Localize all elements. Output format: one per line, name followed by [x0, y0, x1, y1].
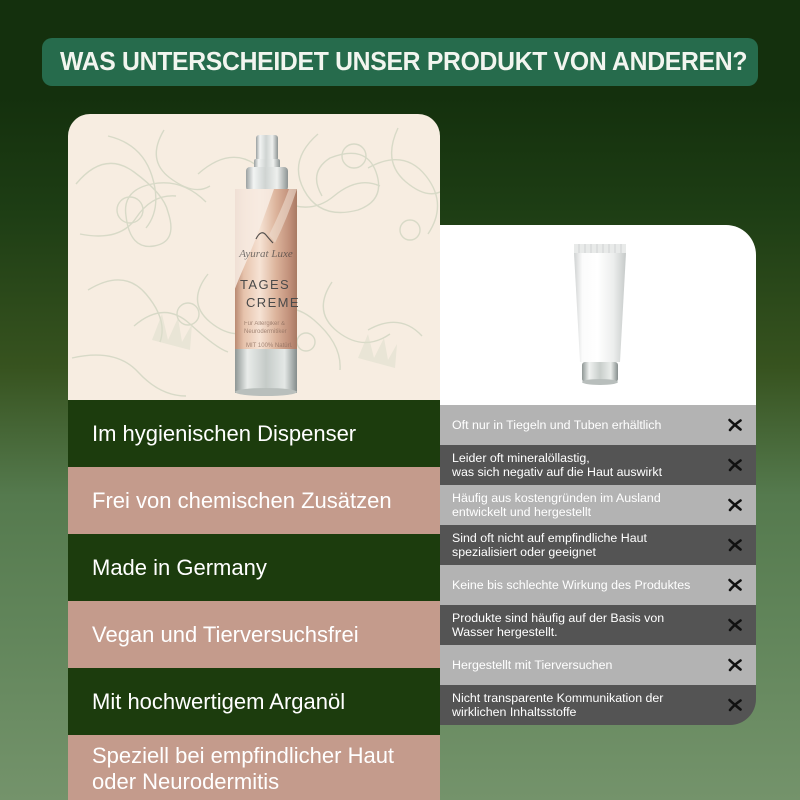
svg-text:Für Allergiker &: Für Allergiker & — [244, 321, 285, 327]
page-title: WAS UNTERSCHEIDET UNSER PRODUKT VON ANDE… — [60, 48, 747, 77]
list-item: Speziell bei empfindlicher Haut oder Neu… — [68, 735, 440, 800]
list-item: Mit hochwertigem Arganöl — [68, 668, 440, 735]
benefit-label: Mit hochwertigem Arganöl — [92, 689, 345, 715]
list-item: Sind oft nicht auf empfindliche Haut spe… — [440, 525, 756, 565]
benefit-label: Vegan und Tierversuchsfrei — [92, 622, 359, 648]
drawback-label: Oft nur in Tiegeln und Tuben erhältlich — [452, 418, 722, 433]
benefit-label: Speziell bei empfindlicher Haut oder Neu… — [92, 743, 422, 795]
svg-text:CREME: CREME — [246, 295, 300, 310]
list-item: Keine bis schlechte Wirkung des Produkte… — [440, 565, 756, 605]
drawback-label: Produkte sind häufig auf der Basis von W… — [452, 611, 722, 640]
competitor-tube-image — [558, 240, 642, 400]
x-mark-icon — [722, 416, 748, 434]
x-mark-icon — [722, 536, 748, 554]
x-mark-icon — [722, 576, 748, 594]
svg-text:Neurodermitiker: Neurodermitiker — [244, 329, 287, 335]
list-item: Frei von chemischen Zusätzen — [68, 467, 440, 534]
x-mark-icon — [722, 496, 748, 514]
competitor-drawback-list: Oft nur in Tiegeln und Tuben erhältlich … — [440, 405, 756, 725]
list-item: Leider oft mineralöllastig, was sich neg… — [440, 445, 756, 485]
header-banner: WAS UNTERSCHEIDET UNSER PRODUKT VON ANDE… — [42, 38, 758, 86]
drawback-label: Keine bis schlechte Wirkung des Produkte… — [452, 578, 722, 593]
drawback-label: Sind oft nicht auf empfindliche Haut spe… — [452, 531, 722, 560]
benefit-label: Im hygienischen Dispenser — [92, 421, 356, 447]
product-benefit-list: Im hygienischen Dispenser Frei von chemi… — [68, 400, 440, 800]
x-mark-icon — [722, 656, 748, 674]
benefit-label: Made in Germany — [92, 555, 267, 581]
drawback-label: Nicht transparente Kommunikation der wir… — [452, 691, 722, 720]
x-mark-icon — [722, 696, 748, 714]
list-item: Hergestellt mit Tierversuchen — [440, 645, 756, 685]
benefit-label: Frei von chemischen Zusätzen — [92, 488, 392, 514]
x-mark-icon — [722, 616, 748, 634]
product-bottle-image: Ayurat Luxe TAGES CREME Für Allergiker &… — [216, 133, 316, 397]
list-item: Oft nur in Tiegeln und Tuben erhältlich — [440, 405, 756, 445]
drawback-label: Leider oft mineralöllastig, was sich neg… — [452, 451, 722, 480]
drawback-label: Hergestellt mit Tierversuchen — [452, 658, 722, 673]
drawback-label: Häufig aus kostengründen im Ausland entw… — [452, 491, 722, 520]
list-item: Made in Germany — [68, 534, 440, 601]
svg-text:TAGES: TAGES — [240, 277, 290, 292]
x-mark-icon — [722, 456, 748, 474]
list-item: Nicht transparente Kommunikation der wir… — [440, 685, 756, 725]
list-item: Häufig aus kostengründen im Ausland entw… — [440, 485, 756, 525]
list-item: Produkte sind häufig auf der Basis von W… — [440, 605, 756, 645]
svg-text:MIT 100% Natürl.: MIT 100% Natürl. — [246, 343, 293, 349]
list-item: Im hygienischen Dispenser — [68, 400, 440, 467]
svg-text:Ayurat Luxe: Ayurat Luxe — [238, 248, 293, 260]
list-item: Vegan und Tierversuchsfrei — [68, 601, 440, 668]
